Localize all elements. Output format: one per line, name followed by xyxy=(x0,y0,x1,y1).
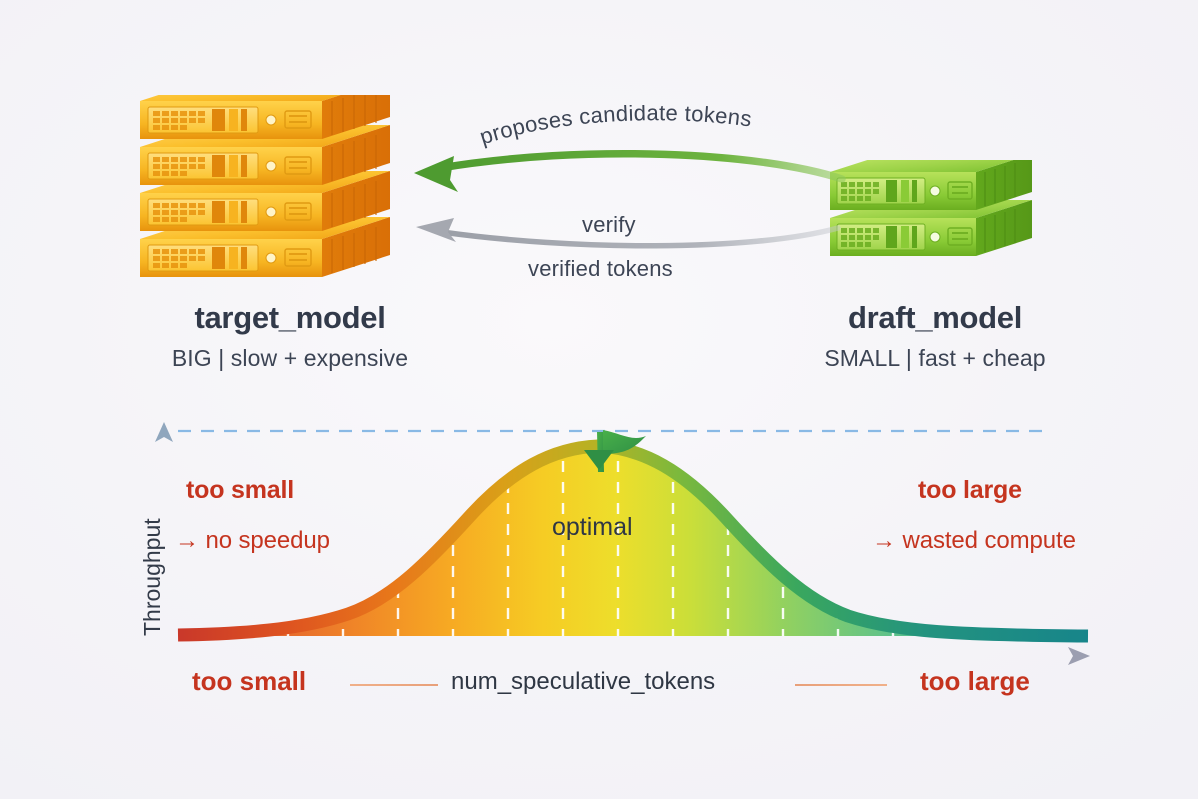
x-axis xyxy=(166,647,1090,665)
figure-canvas: proposes candidate tokens verify verifie… xyxy=(0,0,1198,799)
verify-arrow-label-below: verified tokens xyxy=(528,256,673,282)
target-model-name: target_model xyxy=(90,300,490,336)
annotation-left-text: → no speedup xyxy=(175,527,330,555)
annotation-optimal: optimal xyxy=(552,513,633,542)
proposes-arrow-label-group: proposes candidate tokens xyxy=(470,105,840,165)
annotation-right-title: too large xyxy=(918,476,1022,505)
throughput-chart xyxy=(0,400,1198,710)
annotation-right-text: → wasted compute xyxy=(872,527,1076,555)
target-model-server-stack-icon xyxy=(140,95,430,285)
proposes-arrow-label: proposes candidate tokens xyxy=(477,105,754,149)
verify-arrow-label-above: verify xyxy=(582,212,636,238)
x-axis-caption-right: too large xyxy=(920,666,1030,697)
y-axis-label: Throughput xyxy=(139,518,166,636)
draft-model-name: draft_model xyxy=(735,300,1135,336)
x-axis-label: num_speculative_tokens xyxy=(451,668,715,696)
x-axis-rule-left xyxy=(350,684,438,686)
x-axis-rule-right xyxy=(795,684,887,686)
annotation-left-title: too small xyxy=(186,476,294,505)
target-model-subtitle: BIG | slow + expensive xyxy=(90,345,490,372)
draft-model-subtitle: SMALL | fast + cheap xyxy=(735,345,1135,372)
x-axis-caption-left: too small xyxy=(192,666,306,697)
svg-text:proposes candidate tokens: proposes candidate tokens xyxy=(477,105,754,149)
